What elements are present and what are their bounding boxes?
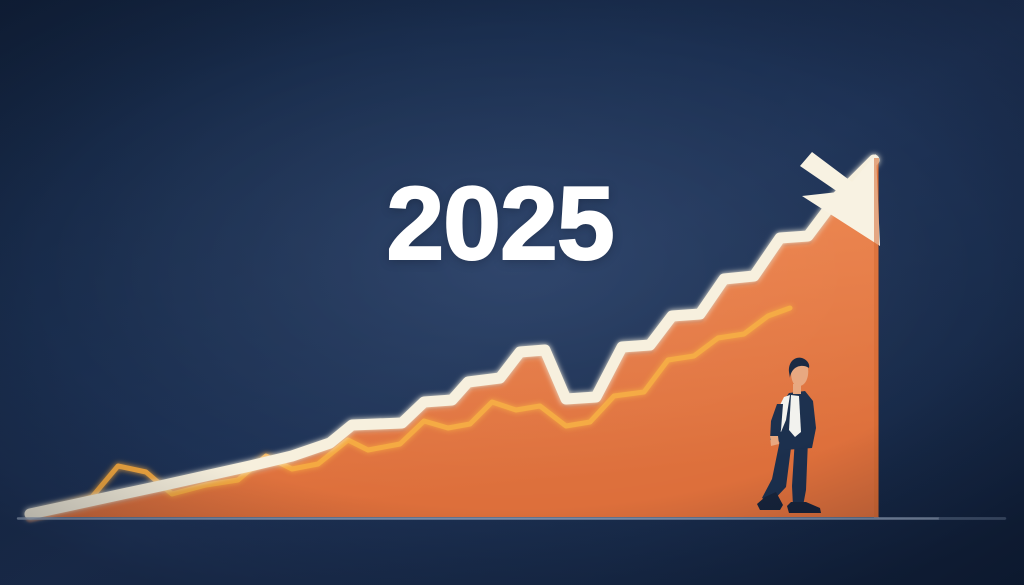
page-title: 2025 (0, 172, 1012, 276)
growth-chart-illustration (0, 0, 1024, 585)
illustration-canvas: 2025 (0, 0, 1024, 585)
businessman-shirt (789, 395, 801, 437)
